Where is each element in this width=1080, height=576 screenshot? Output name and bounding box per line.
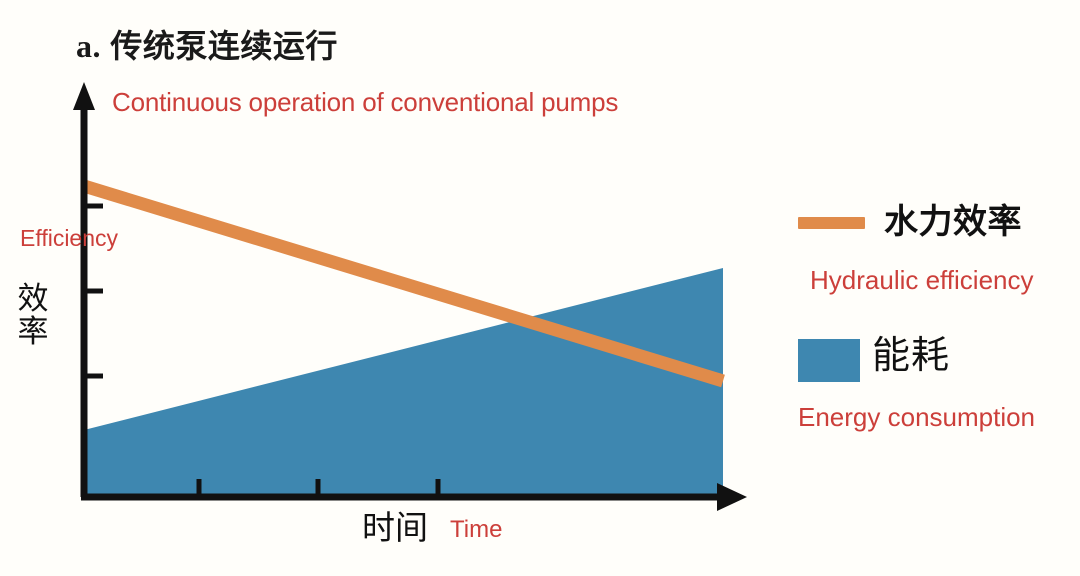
figure-panel: a. 传统泵连续运行 Continuous operation of conve… xyxy=(0,0,1080,576)
x-axis-arrowhead xyxy=(717,483,747,511)
y-axis-label-cn: 效率 xyxy=(16,283,50,349)
legend-label-en: Hydraulic efficiency xyxy=(810,267,1034,293)
energy-consumption-area xyxy=(84,268,723,494)
legend-line-swatch-icon xyxy=(798,217,865,229)
x-axis-label-en: Time xyxy=(450,518,502,542)
y-axis-label-en: Efficiency xyxy=(20,227,118,250)
legend-label-cn: 水力效率 xyxy=(884,205,1022,239)
legend-label-cn: 能耗 xyxy=(872,337,950,375)
legend-label-en: Energy consumption xyxy=(798,404,1035,430)
legend-box-swatch-icon xyxy=(798,339,860,382)
y-axis-arrowhead xyxy=(73,82,95,110)
x-axis-label-cn: 时间 xyxy=(362,511,428,544)
